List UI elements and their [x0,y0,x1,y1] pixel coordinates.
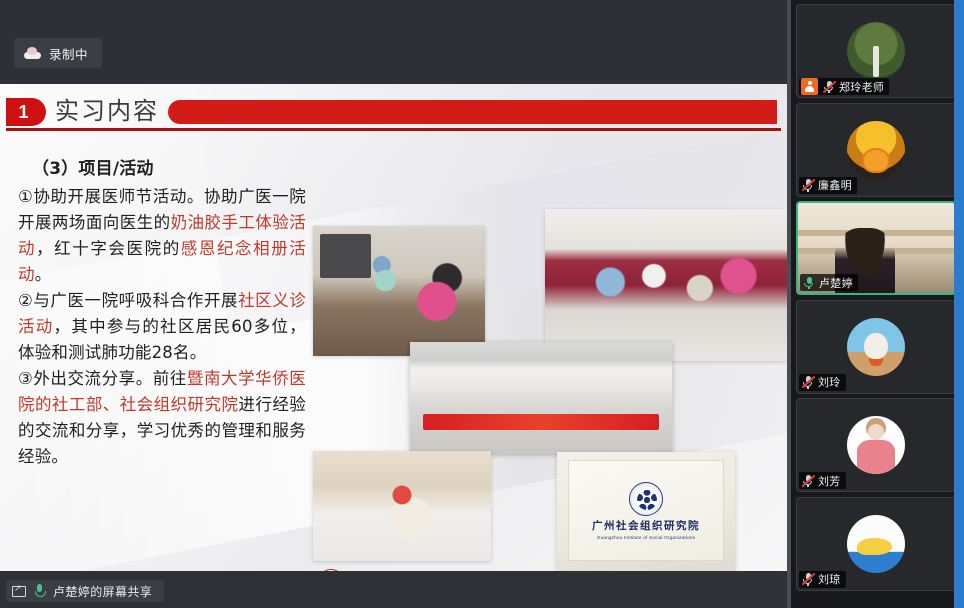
slide-text-block: （3）项目/活动 ①协助开展医师节活动。协助广医一院开展两场面向医生的奶油胶手工… [18,156,306,470]
photo-clinic-hall [545,209,787,361]
shared-screen-area: 录制中 1 实习内容 （3）项目/活动 ①协助开展医师节活动。协助广医一院开展两… [0,0,787,608]
participant-nameplate: 刘芳 [799,472,846,489]
institute-plaque: 广州社会组织研究院 Guangzhou Institute of Social … [568,460,725,561]
body-text: ②与广医一院呼吸科合作开展 [18,291,238,310]
person-avatar [847,416,905,474]
body-text: ③外出交流分享。前往 [18,369,187,388]
bird-avatar [847,318,905,376]
plaque-name-en: Guangzhou Institute of Social Organizati… [597,535,695,540]
participant-list[interactable]: 郑玲老师廉鑫明卢楚婷刘玲刘芳刘琼 [791,0,961,608]
participant-nameplate: 刘玲 [799,374,846,391]
participant-name: 廉鑫明 [818,177,852,193]
tree-avatar [847,22,905,80]
participant-nameplate: 廉鑫明 [799,177,857,194]
microphone-muted-icon [801,572,815,586]
institute-seal-icon [629,482,663,516]
host-badge-icon [801,78,818,95]
recording-indicator: 录制中 [14,38,102,68]
participant-tile[interactable]: 郑玲老师 [796,4,956,98]
participant-tile[interactable]: 刘芳 [796,398,956,492]
item-2: ②与广医一院呼吸科合作开展社区义诊活动，其中参与的社区居民60多位，体验和测试肺… [18,288,306,366]
microphone-muted-icon [801,375,815,389]
slide-subheading: （3）项目/活动 [18,156,306,182]
participant-nameplate: 郑玲老师 [799,78,889,95]
body-text: ，红十字会医院的 [36,239,181,258]
participant-name: 刘琼 [818,571,841,587]
screen-share-label: 卢楚婷的屏幕共享 [53,583,152,600]
lion-avatar [847,121,905,179]
cloud-icon [24,47,41,59]
photo-group-banner: 2022年广州市医务社会服务行业联盟义诊活动 [410,342,672,454]
item-1: ①协助开展医师节活动。协助广医一院开展两场面向医生的奶油胶手工体验活动，红十字会… [18,184,306,288]
photo-institute-plaque: 广州社会组织研究院 Guangzhou Institute of Social … [557,452,735,571]
slide-title-bar: 1 实习内容 [0,88,787,138]
item-3: ③外出交流分享。前往暨南大学华侨医院的社工部、社会组织研究院进行经验的交流和分享… [18,366,306,470]
body-text: 。 [35,265,52,284]
microphone-muted-icon [801,474,815,488]
presentation-slide: 1 实习内容 （3）项目/活动 ①协助开展医师节活动。协助广医一院开展两场面向医… [0,84,787,571]
plaque-name-cn: 广州社会组织研究院 [592,518,700,533]
page-title: 实习内容 [55,98,159,126]
participant-name: 卢楚婷 [819,275,853,291]
participant-nameplate: 卢楚婷 [800,274,858,291]
participant-name: 刘玲 [818,374,841,390]
share-top-bar: 录制中 [0,0,787,84]
participant-name: 刘芳 [818,473,841,489]
slide-paragraphs: ①协助开展医师节活动。协助广医一院开展两场面向医生的奶油胶手工体验活动，红十字会… [18,184,306,470]
participant-tile[interactable]: 廉鑫明 [796,103,956,197]
window-right-edge [954,0,964,608]
whale-avatar [847,515,905,573]
photo-banner-text: 2022年广州市医务社会服务行业联盟义诊活动 [428,415,653,428]
participant-strip[interactable]: 郑玲老师廉鑫明卢楚婷刘玲刘芳刘琼 [787,0,964,608]
participant-tile[interactable]: 卢楚婷 [796,201,956,295]
participant-name: 郑玲老师 [839,79,884,95]
participant-tile[interactable]: 刘琼 [796,497,956,591]
title-underline [6,128,781,131]
participant-nameplate: 刘琼 [799,571,846,588]
participant-tile[interactable]: 刘玲 [796,300,956,394]
person-icon [805,81,814,92]
microphone-on-icon [33,584,46,598]
screen-share-status: 卢楚婷的屏幕共享 [6,580,164,602]
body-text: ，其中参与的社区居民60多位，体验和测试肺功能28名。 [18,317,306,362]
title-accent-bar [168,100,777,124]
slide-number-badge: 1 [6,98,46,126]
photo-handicraft-workshop [313,226,485,356]
recording-label: 录制中 [49,44,88,63]
photo-team-celebration [313,451,491,561]
meeting-window: 录制中 1 实习内容 （3）项目/活动 ①协助开展医师节活动。协助广医一院开展两… [0,0,964,608]
microphone-muted-icon [822,80,836,94]
microphone-muted-icon [801,178,815,192]
microphone-on-icon [802,276,816,290]
screen-share-icon [12,586,26,597]
